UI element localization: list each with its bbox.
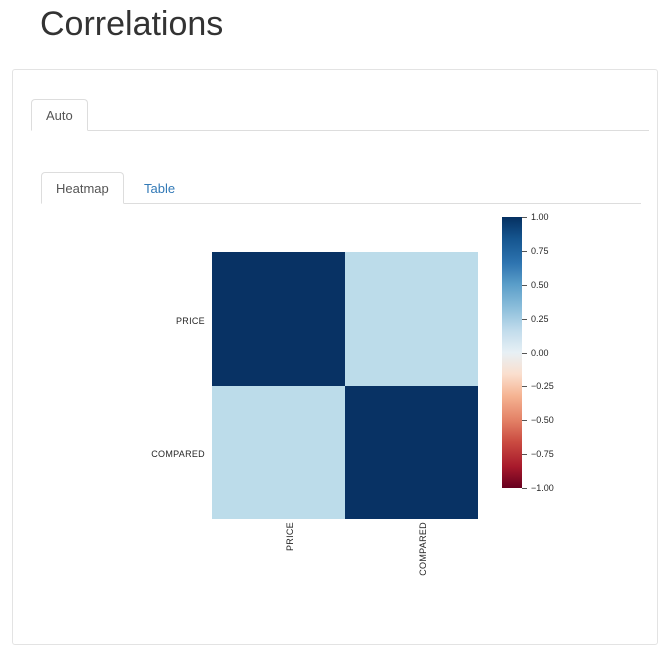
- y-axis-labels: PRICE COMPARED: [73, 252, 205, 519]
- colorbar-tick: [522, 285, 527, 286]
- heatmap-cell-price-price[interactable]: [212, 252, 345, 386]
- page-title: Correlations: [40, 0, 223, 48]
- colorbar-tick-label: 1.00: [531, 213, 549, 222]
- y-tick-label-compared: COMPARED: [85, 449, 205, 459]
- outer-tab-bar: Auto: [31, 99, 649, 131]
- colorbar-tick: [522, 488, 527, 489]
- colorbar-tick-label: 0.75: [531, 247, 549, 256]
- colorbar-tick-label: −0.75: [531, 450, 554, 459]
- colorbar-tick: [522, 420, 527, 421]
- colorbar-tick: [522, 386, 527, 387]
- colorbar-tick: [522, 319, 527, 320]
- x-axis-labels: PRICE COMPARED: [212, 522, 478, 612]
- colorbar-tick-label: 0.25: [531, 315, 549, 324]
- heatmap-matrix[interactable]: [212, 252, 478, 519]
- heatmap-plot: PRICE COMPARED PRICE COMPARED 1.000.750.…: [13, 210, 659, 630]
- colorbar-tick-label: −0.50: [531, 416, 554, 425]
- y-tick-label-price: PRICE: [85, 316, 205, 326]
- colorbar-tick-label: −1.00: [531, 484, 554, 493]
- colorbar-tick: [522, 217, 527, 218]
- heatmap-cell-price-compared[interactable]: [345, 252, 478, 386]
- colorbar: 1.000.750.500.250.00−0.25−0.50−0.75−1.00: [502, 217, 622, 497]
- colorbar-tick-label: 0.00: [531, 349, 549, 358]
- colorbar-tick-label: −0.25: [531, 382, 554, 391]
- tab-heatmap[interactable]: Heatmap: [41, 172, 124, 204]
- heatmap-cell-compared-price[interactable]: [212, 386, 345, 520]
- colorbar-tick: [522, 251, 527, 252]
- colorbar-tick-label: 0.50: [531, 281, 549, 290]
- x-tick-label-compared: COMPARED: [417, 522, 429, 655]
- heatmap-cell-compared-compared[interactable]: [345, 386, 478, 520]
- tab-auto[interactable]: Auto: [31, 99, 88, 131]
- colorbar-gradient: [502, 217, 522, 488]
- inner-tab-bar: Heatmap Table: [41, 172, 641, 204]
- tab-table[interactable]: Table: [129, 172, 190, 204]
- colorbar-tick: [522, 454, 527, 455]
- x-tick-label-price: PRICE: [284, 522, 296, 655]
- correlations-card: Auto Heatmap Table PRICE COMPARED PRICE …: [12, 69, 658, 645]
- colorbar-tick: [522, 353, 527, 354]
